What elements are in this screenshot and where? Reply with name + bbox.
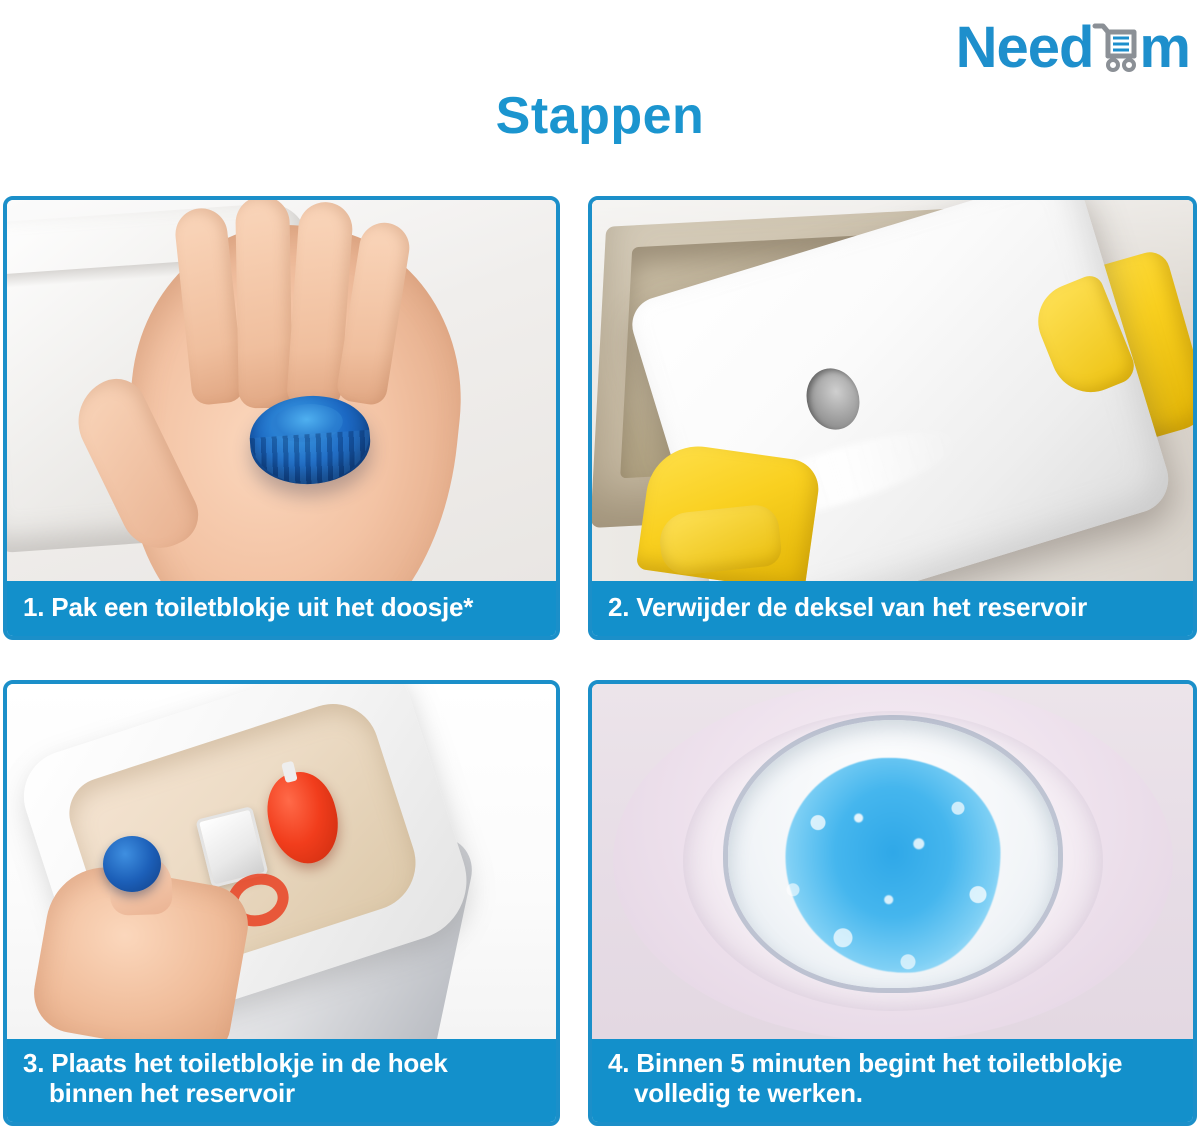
caption-line: 4. Binnen 5 minuten begint het toiletblo…	[608, 1048, 1179, 1079]
step-1-caption: 1. Pak een toiletblokje uit het doosje*	[7, 581, 556, 636]
brand-header: Need m	[956, 8, 1190, 78]
caption-line: binnen het reservoir	[23, 1078, 542, 1109]
step-4-caption: 4. Binnen 5 minuten begint het toiletblo…	[592, 1039, 1193, 1122]
step-2-caption: 2. Verwijder de deksel van het reservoir	[592, 581, 1193, 636]
caption-line: 1. Pak een toiletblokje uit het doosje*	[23, 592, 542, 623]
shopping-cart-icon	[1093, 9, 1139, 67]
steps-infographic-page: Need m Stappen	[0, 0, 1200, 1129]
needum-logo[interactable]: Need m	[956, 9, 1190, 77]
step-2-image	[592, 200, 1193, 581]
caption-line: 2. Verwijder de deksel van het reservoir	[608, 592, 1179, 623]
yellow-glove-fingers-shape	[657, 503, 783, 577]
steps-grid: 1. Pak een toiletblokje uit het doosje* …	[3, 196, 1197, 1126]
logo-text-after-cart: m	[1139, 19, 1190, 77]
step-3-caption: 3. Plaats het toiletblokje in de hoek bi…	[7, 1039, 556, 1122]
step-card-3[interactable]: 3. Plaats het toiletblokje in de hoek bi…	[3, 680, 560, 1126]
step-card-2[interactable]: 2. Verwijder de deksel van het reservoir	[588, 196, 1197, 640]
finger-shape	[235, 200, 293, 408]
caption-line: volledig te werken.	[608, 1078, 1179, 1109]
caption-line: 3. Plaats het toiletblokje in de hoek	[23, 1048, 542, 1079]
step-1-image	[7, 200, 556, 581]
foam-bubbles-shape	[768, 751, 1018, 991]
page-title: Stappen	[0, 86, 1200, 146]
logo-text-before-cart: Need	[956, 19, 1094, 77]
step-card-4[interactable]: 4. Binnen 5 minuten begint het toiletblo…	[588, 680, 1197, 1126]
step-4-image	[592, 684, 1193, 1039]
blue-toilet-block	[103, 836, 161, 892]
step-card-1[interactable]: 1. Pak een toiletblokje uit het doosje*	[3, 196, 560, 640]
step-3-image	[7, 684, 556, 1039]
